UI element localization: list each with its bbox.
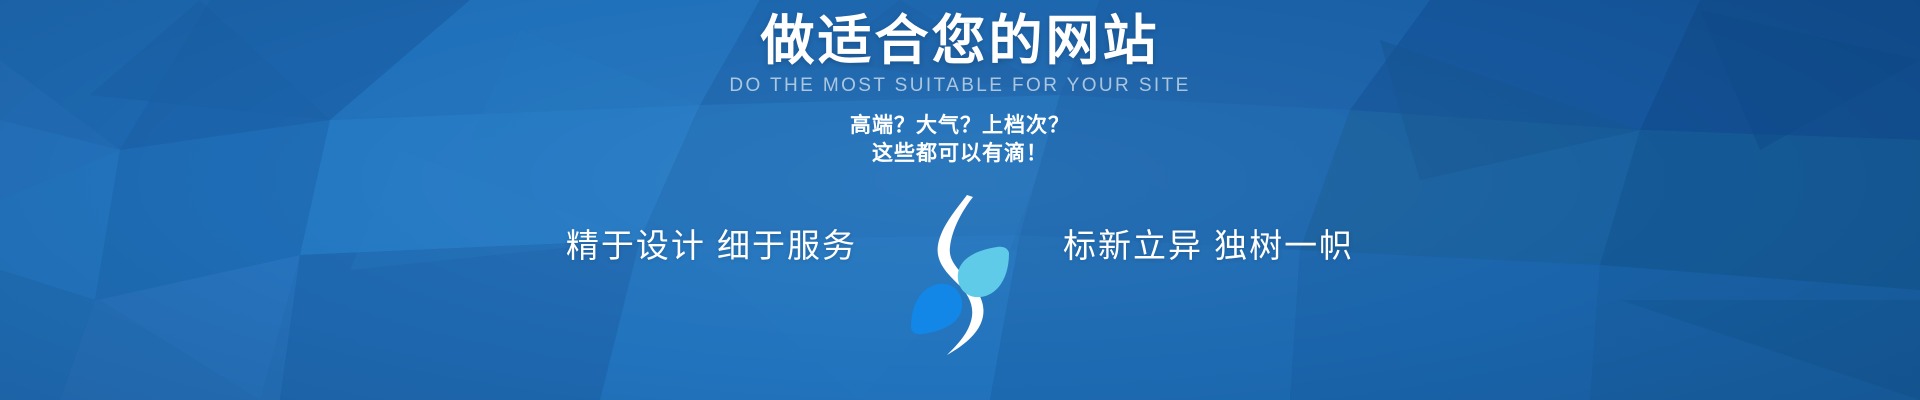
hero-banner: 做适合您的网站 DO THE MOST SUITABLE FOR YOUR SI… [0, 0, 1920, 400]
slogan-left: 精于设计 细于服务 [566, 229, 857, 262]
page-title: 做适合您的网站 [761, 0, 1160, 70]
english-subtitle: DO THE MOST SUITABLE FOR YOUR SITE [729, 76, 1190, 95]
tagline: 高端？大气？上档次？ 这些都可以有滴！ [850, 112, 1070, 169]
slogan-row: 精于设计 细于服务 标新立异 独树一帜 [0, 193, 1920, 298]
banner-content: 做适合您的网站 DO THE MOST SUITABLE FOR YOUR SI… [0, 0, 1920, 400]
leaf-sprout-logo-icon [905, 193, 1015, 358]
tagline-line-1: 高端？大气？上档次？ [850, 114, 1070, 137]
tagline-line-2: 这些都可以有滴！ [850, 140, 1070, 168]
logo-leaf-upper [958, 247, 1009, 297]
slogan-right: 标新立异 独树一帜 [1063, 229, 1354, 262]
logo-leaf-lower [911, 284, 962, 334]
